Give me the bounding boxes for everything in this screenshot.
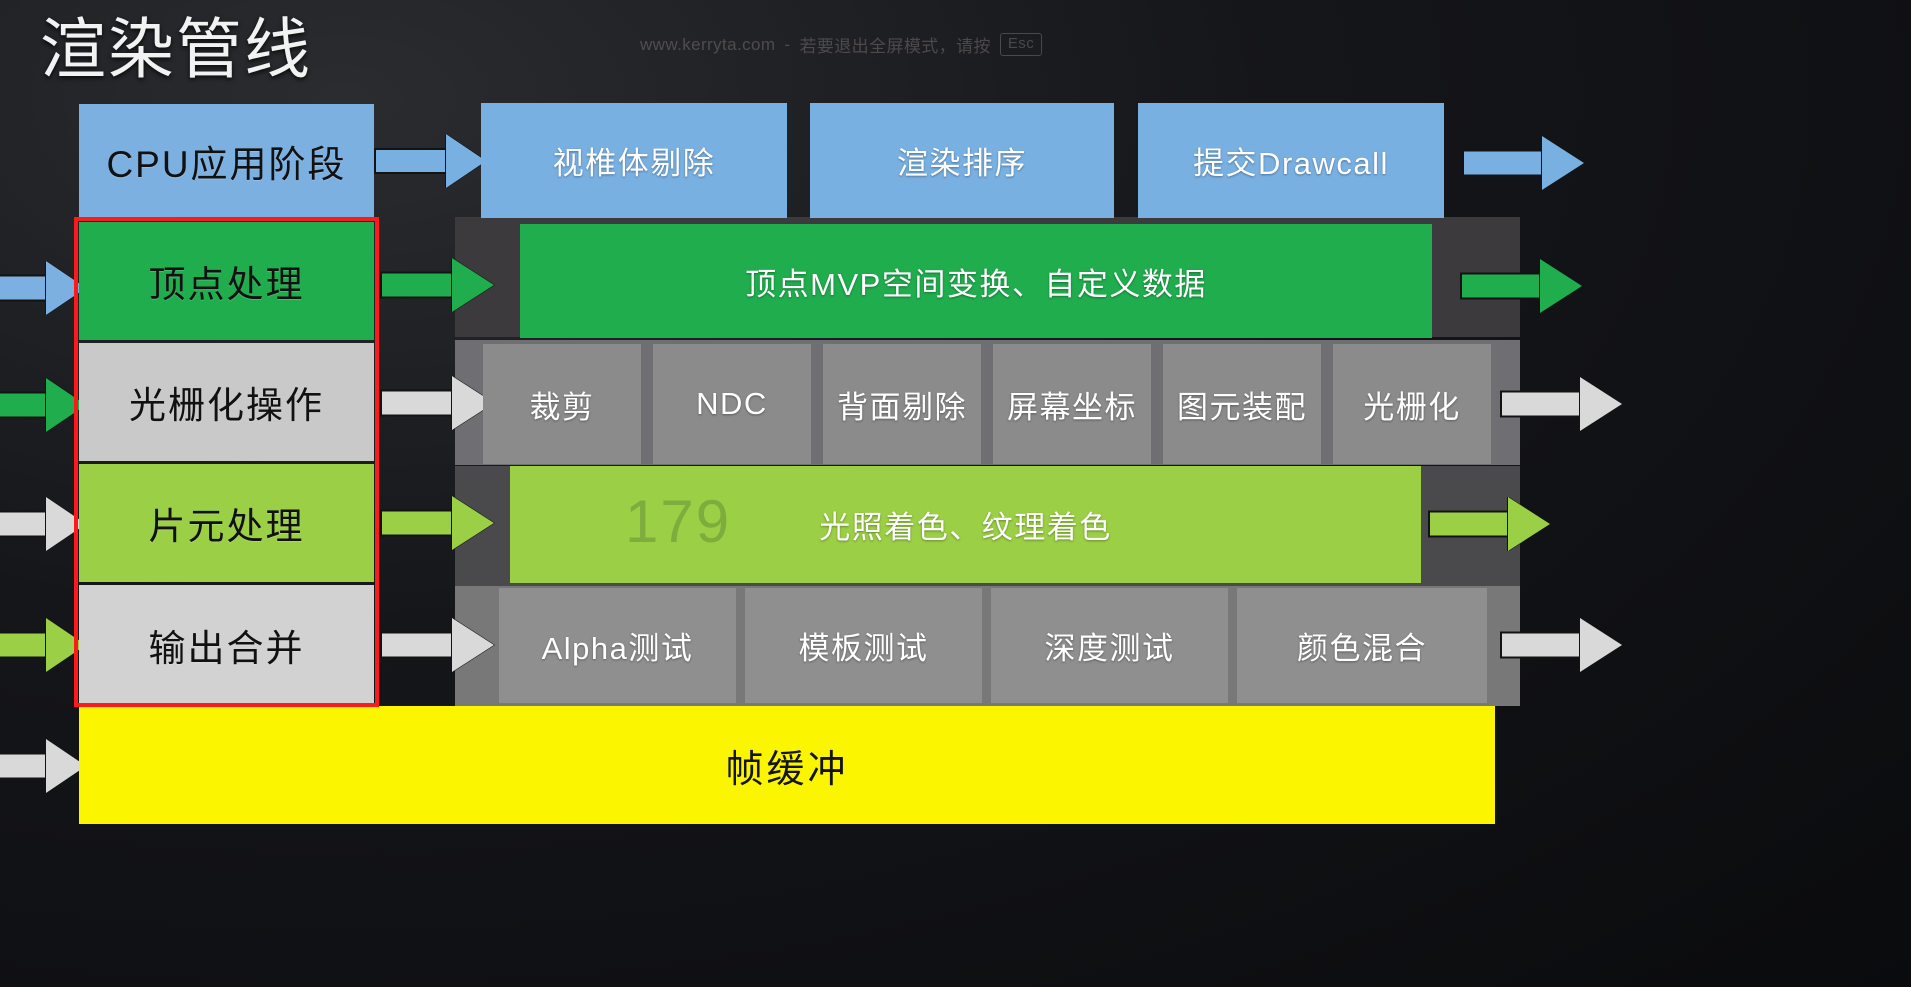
- step-box-screen-coords[interactable]: 屏幕坐标: [993, 344, 1151, 464]
- step-label: 屏幕坐标: [1007, 382, 1137, 427]
- step-label: 视椎体剔除: [553, 138, 716, 183]
- step-label: Alpha测试: [542, 623, 694, 668]
- step-box-ndc[interactable]: NDC: [653, 344, 811, 464]
- step-label: 光栅化: [1363, 382, 1461, 427]
- step-label: 裁剪: [530, 382, 595, 427]
- framebuffer-label: 帧缓冲: [725, 738, 848, 793]
- hint-message: 若要退出全屏模式，请按: [799, 32, 990, 57]
- slide-canvas: 渲染管线 www.kerryta.com - 若要退出全屏模式，请按 Esc C…: [0, 0, 1911, 987]
- hint-url: www.kerryta.com: [640, 35, 775, 55]
- stage-label-text: 光栅化操作: [129, 375, 324, 429]
- stage-label-text: 输出合并: [149, 618, 305, 672]
- stage-label-text: CPU应用阶段: [106, 134, 346, 188]
- stage-label-rasterization[interactable]: 光栅化操作: [79, 343, 374, 461]
- step-label: 背面剔除: [837, 382, 967, 427]
- step-label: 颜色混合: [1297, 623, 1427, 668]
- stage-label-cpu[interactable]: CPU应用阶段: [79, 104, 374, 217]
- step-box-stencil-test[interactable]: 模板测试: [745, 588, 982, 703]
- step-box-primitive-assembly[interactable]: 图元装配: [1163, 344, 1321, 464]
- step-box-render-sorting[interactable]: 渲染排序: [810, 103, 1114, 218]
- stage-label-output-merge[interactable]: 输出合并: [79, 585, 374, 705]
- step-box-alpha-test[interactable]: Alpha测试: [499, 588, 736, 703]
- step-box-depth-test[interactable]: 深度测试: [991, 588, 1228, 703]
- step-label: 深度测试: [1045, 623, 1175, 668]
- step-box-submit-drawcall[interactable]: 提交Drawcall: [1138, 103, 1444, 218]
- page-title: 渲染管线: [40, 8, 312, 91]
- step-box-frustum-culling[interactable]: 视椎体剔除: [481, 103, 787, 218]
- stage-label-text: 片元处理: [149, 496, 305, 550]
- esc-key-badge: Esc: [1000, 33, 1042, 57]
- step-label: 光照着色、纹理着色: [819, 502, 1112, 547]
- fullscreen-exit-hint: www.kerryta.com - 若要退出全屏模式，请按 Esc: [640, 32, 1042, 57]
- step-label: 图元装配: [1177, 382, 1307, 427]
- framebuffer-box[interactable]: 帧缓冲: [79, 706, 1495, 824]
- stage-label-text: 顶点处理: [149, 254, 305, 308]
- step-label: 提交Drawcall: [1193, 138, 1389, 183]
- step-box-backface-culling[interactable]: 背面剔除: [823, 344, 981, 464]
- step-label: 模板测试: [799, 623, 929, 668]
- stage-label-fragment[interactable]: 片元处理: [79, 464, 374, 582]
- step-box-rasterize[interactable]: 光栅化: [1333, 344, 1491, 464]
- stage-label-vertex[interactable]: 顶点处理: [79, 222, 374, 340]
- step-label: 顶点MVP空间变换、自定义数据: [745, 259, 1207, 304]
- step-box-color-blend[interactable]: 颜色混合: [1237, 588, 1487, 703]
- step-box-clipping[interactable]: 裁剪: [483, 344, 641, 464]
- hint-dash: -: [784, 35, 790, 55]
- step-label: 渲染排序: [897, 138, 1027, 183]
- step-box-shading[interactable]: 光照着色、纹理着色: [510, 466, 1421, 583]
- step-box-vertex-mvp[interactable]: 顶点MVP空间变换、自定义数据: [520, 224, 1432, 338]
- step-label: NDC: [696, 386, 768, 422]
